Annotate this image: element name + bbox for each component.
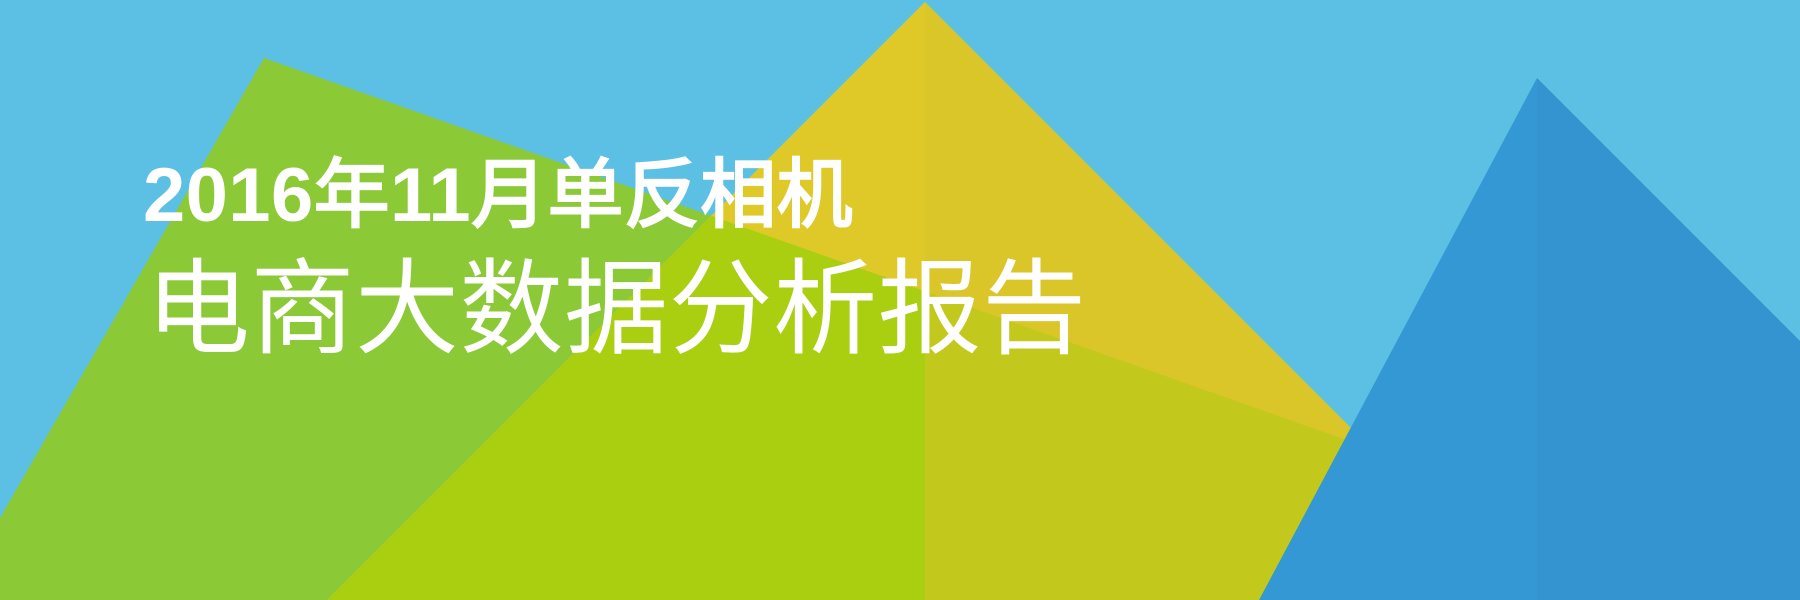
report-cover-banner: 2016年11月单反相机 电商大数据分析报告 xyxy=(0,0,1800,600)
background-geometric-artwork xyxy=(0,0,1800,600)
